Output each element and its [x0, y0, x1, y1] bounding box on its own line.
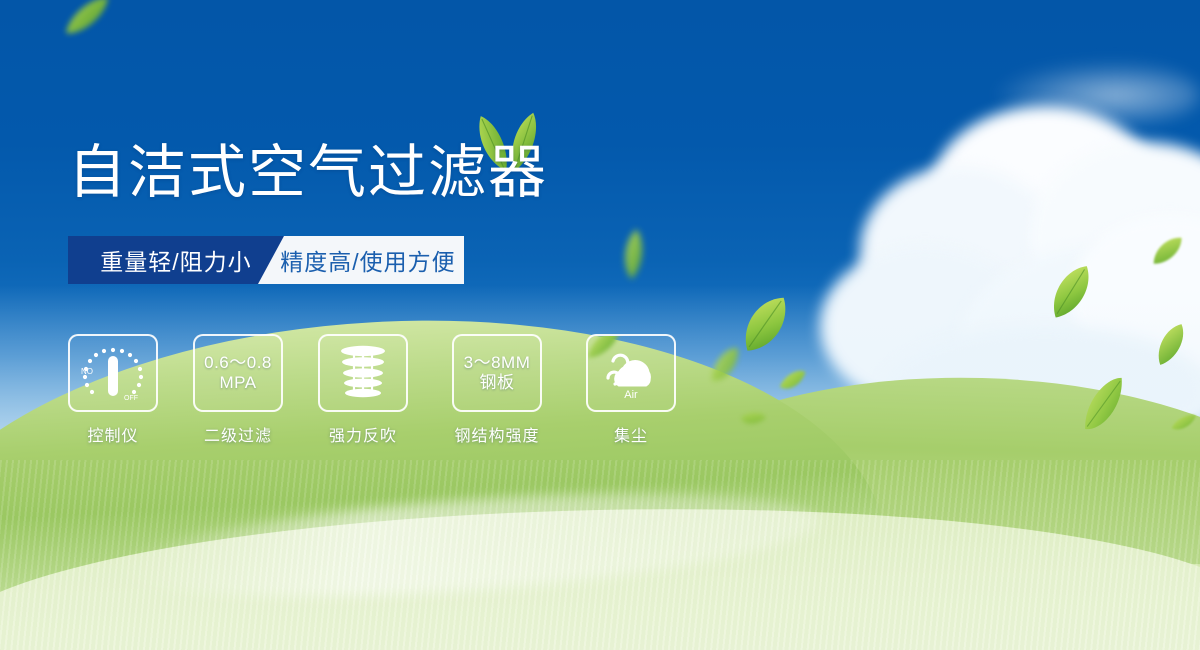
feature-icon-box: 0.6～0.8 MPA — [193, 334, 283, 412]
feature-icon-text-top: 0.6～0.8 — [204, 353, 272, 373]
page-title: 自洁式空气过滤器 — [68, 144, 548, 202]
feature-icon-text-bottom: MPA — [204, 373, 272, 393]
feature-label: 集尘 — [614, 422, 648, 446]
feature-item-strong-blowback[interactable]: 强力反吹 — [318, 334, 408, 446]
feature-icon-box — [318, 334, 408, 412]
subtitle-right-text: 精度高/使用方便 — [266, 243, 455, 277]
feature-icon-box: Air — [586, 334, 676, 412]
feature-label: 控制仪 — [87, 422, 138, 446]
feature-icon-text-top: 3～8MM — [464, 353, 531, 373]
banner-content: 自洁式空气过滤器 重量轻/阻力小 精度高/使用方便 — [0, 0, 1200, 650]
banner-hero: 自洁式空气过滤器 重量轻/阻力小 精度高/使用方便 — [0, 0, 1200, 650]
feature-icon-text-bottom: 钢板 — [464, 373, 531, 393]
subtitle-right-panel: 精度高/使用方便 — [258, 236, 464, 284]
subtitle-bar: 重量轻/阻力小 精度高/使用方便 — [68, 236, 464, 284]
feature-item-control-instrument[interactable]: NO OFF 控制仪 — [68, 334, 158, 446]
cloud-air-icon: Air — [599, 345, 663, 401]
subtitle-left-panel: 重量轻/阻力小 — [68, 236, 284, 284]
feature-label: 二级过滤 — [204, 422, 272, 446]
feature-list: NO OFF 控制仪 0.6～0.8 MPA 二级过滤 — [68, 334, 676, 446]
steel-plate-text-icon: 3～8MM 钢板 — [464, 353, 531, 393]
dial-off-label: OFF — [124, 395, 138, 402]
filter-coil-icon — [334, 342, 392, 404]
feature-label: 钢结构强度 — [454, 422, 539, 446]
control-dial-icon: NO OFF — [77, 342, 149, 404]
feature-icon-box: NO OFF — [68, 334, 158, 412]
dial-on-label: NO — [81, 367, 93, 376]
feature-item-dust-collection[interactable]: Air 集尘 — [586, 334, 676, 446]
pressure-text-icon: 0.6～0.8 MPA — [204, 353, 272, 393]
feature-label: 强力反吹 — [329, 422, 397, 446]
feature-icon-box: 3～8MM 钢板 — [452, 334, 542, 412]
feature-item-steel-strength[interactable]: 3～8MM 钢板 钢结构强度 — [443, 334, 551, 446]
subtitle-left-text: 重量轻/阻力小 — [100, 243, 251, 277]
air-label: Air — [624, 389, 638, 401]
feature-item-two-stage-filter[interactable]: 0.6～0.8 MPA 二级过滤 — [193, 334, 283, 446]
